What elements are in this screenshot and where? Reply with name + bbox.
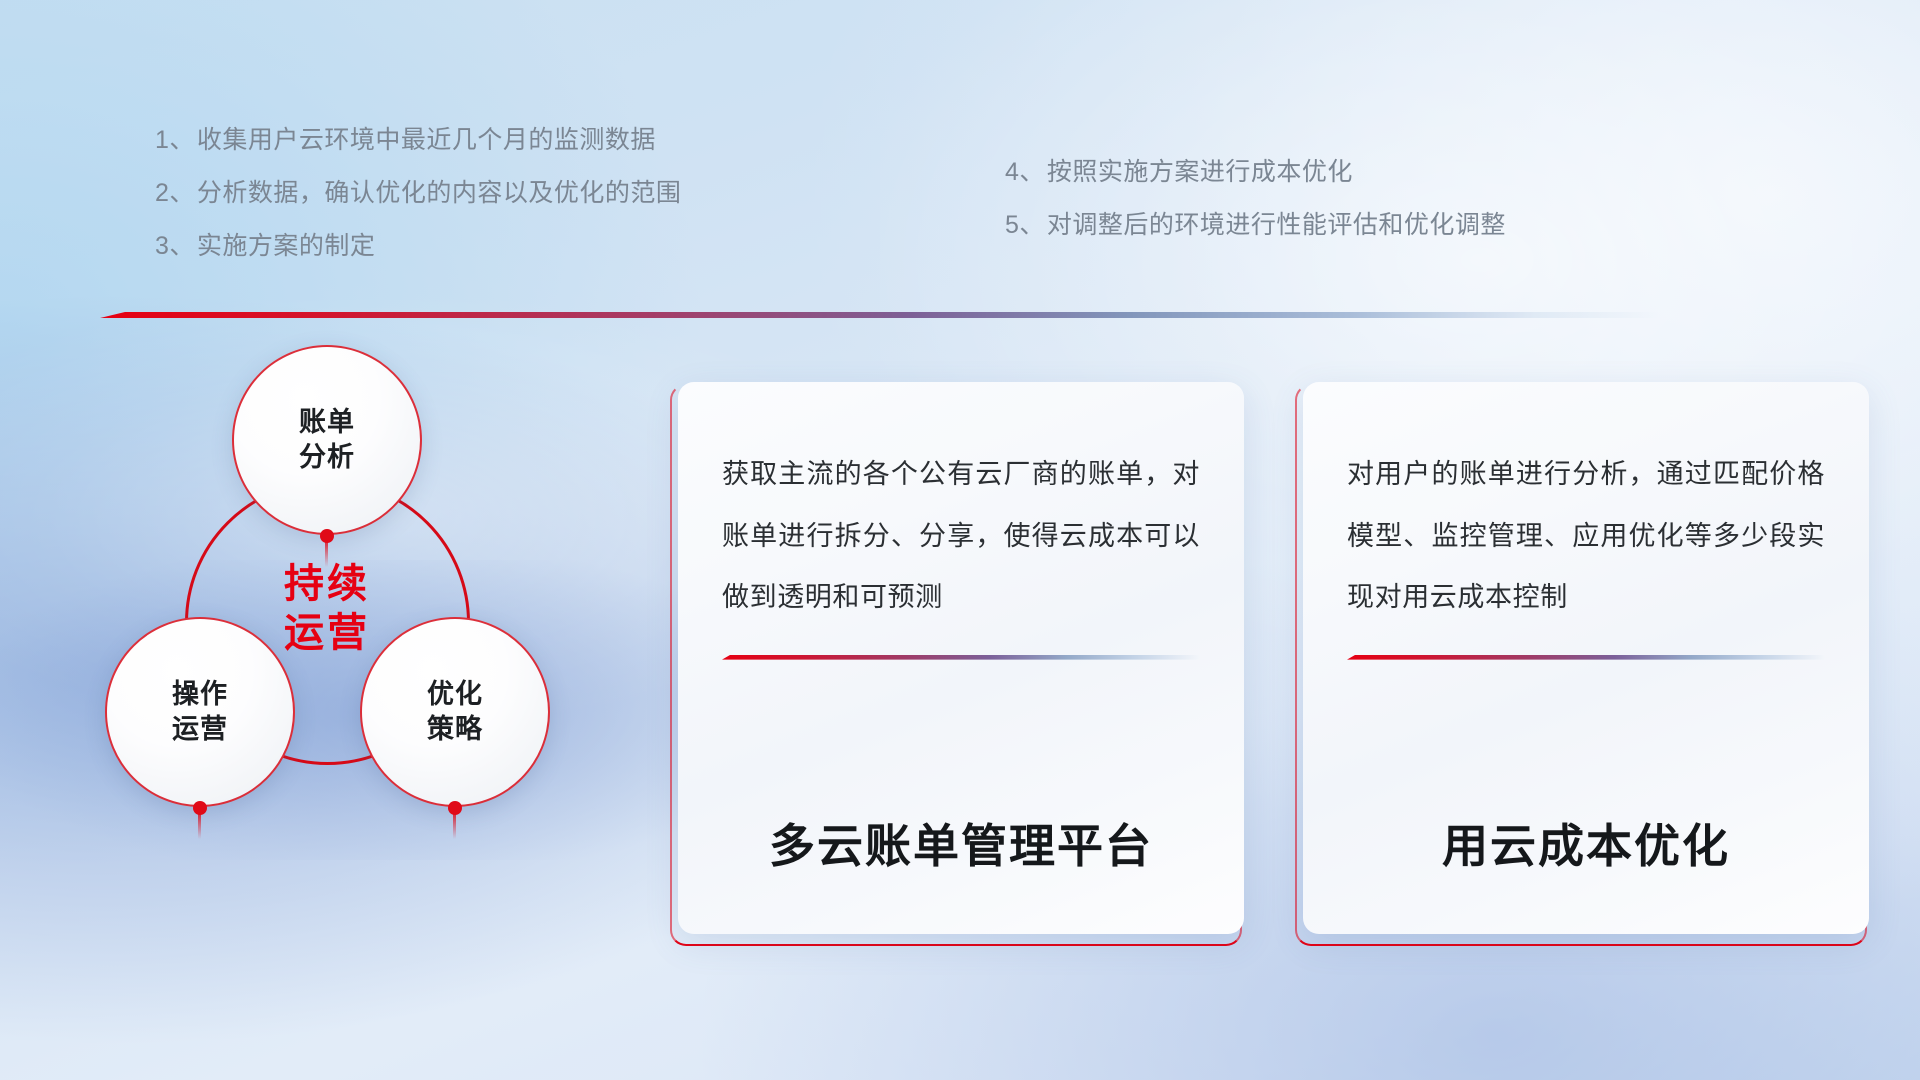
step-text: 对调整后的环境进行性能评估和优化调整 <box>1047 211 1506 239</box>
slide-canvas: 1、收集用户云环境中最近几个月的监测数据 2、分析数据，确认优化的内容以及优化的… <box>0 0 1920 1080</box>
bubble-label-line1: 操作 <box>172 677 228 712</box>
card-body-text: 获取主流的各个公有云厂商的账单，对账单进行拆分、分享，使得云成本可以做到透明和可… <box>722 444 1200 629</box>
bubble-label-line2: 运营 <box>172 712 228 747</box>
cycle-marker-dot-right <box>448 801 462 815</box>
step-number: 5、 <box>1005 211 1045 239</box>
step-item-3: 3、实施方案的制定 <box>155 234 681 259</box>
step-item-4: 4、按照实施方案进行成本优化 <box>1005 160 1506 185</box>
cycle-center-label: 持续 运营 <box>227 560 427 658</box>
step-text: 收集用户云环境中最近几个月的监测数据 <box>197 126 656 154</box>
step-number: 2、 <box>155 179 195 207</box>
cycle-marker-dot-left <box>193 801 207 815</box>
step-text: 按照实施方案进行成本优化 <box>1047 158 1353 186</box>
step-item-2: 2、分析数据，确认优化的内容以及优化的范围 <box>155 181 681 206</box>
card-surface: 获取主流的各个公有云厂商的账单，对账单进行拆分、分享，使得云成本可以做到透明和可… <box>678 382 1244 934</box>
step-number: 1、 <box>155 126 195 154</box>
steps-list-left: 1、收集用户云环境中最近几个月的监测数据 2、分析数据，确认优化的内容以及优化的… <box>155 128 681 259</box>
step-item-5: 5、对调整后的环境进行性能评估和优化调整 <box>1005 213 1506 238</box>
cycle-center-label-line1: 持续 <box>227 560 427 609</box>
step-text: 分析数据，确认优化的内容以及优化的范围 <box>197 179 682 207</box>
step-text: 实施方案的制定 <box>197 232 376 260</box>
step-item-1: 1、收集用户云环境中最近几个月的监测数据 <box>155 128 681 153</box>
card-title: 多云账单管理平台 <box>722 821 1200 872</box>
card-accent-rule <box>1347 655 1825 660</box>
section-divider <box>100 312 1660 318</box>
bubble-label-line1: 优化 <box>427 677 483 712</box>
cycle-bubble-billing-analysis[interactable]: 账单 分析 <box>232 345 422 535</box>
bubble-label-line1: 账单 <box>299 405 355 440</box>
step-number: 3、 <box>155 232 195 260</box>
cycle-marker-dot-top <box>320 529 334 543</box>
step-number: 4、 <box>1005 158 1045 186</box>
card-accent-rule <box>722 655 1200 660</box>
card-title: 用云成本优化 <box>1347 821 1825 872</box>
cycle-diagram: 账单 分析 操作 运营 优化 策略 持续 运营 <box>95 345 655 945</box>
card-surface: 对用户的账单进行分析，通过匹配价格模型、监控管理、应用优化等多少段实现对用云成本… <box>1303 382 1869 934</box>
card-body-text: 对用户的账单进行分析，通过匹配价格模型、监控管理、应用优化等多少段实现对用云成本… <box>1347 444 1825 629</box>
feature-card-multicloud-billing[interactable]: 获取主流的各个公有云厂商的账单，对账单进行拆分、分享，使得云成本可以做到透明和可… <box>672 382 1244 942</box>
steps-list-right: 4、按照实施方案进行成本优化 5、对调整后的环境进行性能评估和优化调整 <box>1005 160 1506 238</box>
feature-card-cloud-cost-optimization[interactable]: 对用户的账单进行分析，通过匹配价格模型、监控管理、应用优化等多少段实现对用云成本… <box>1297 382 1869 942</box>
bubble-label-line2: 策略 <box>427 712 483 747</box>
bubble-label-line2: 分析 <box>299 440 355 475</box>
cycle-center-label-line2: 运营 <box>227 609 427 658</box>
